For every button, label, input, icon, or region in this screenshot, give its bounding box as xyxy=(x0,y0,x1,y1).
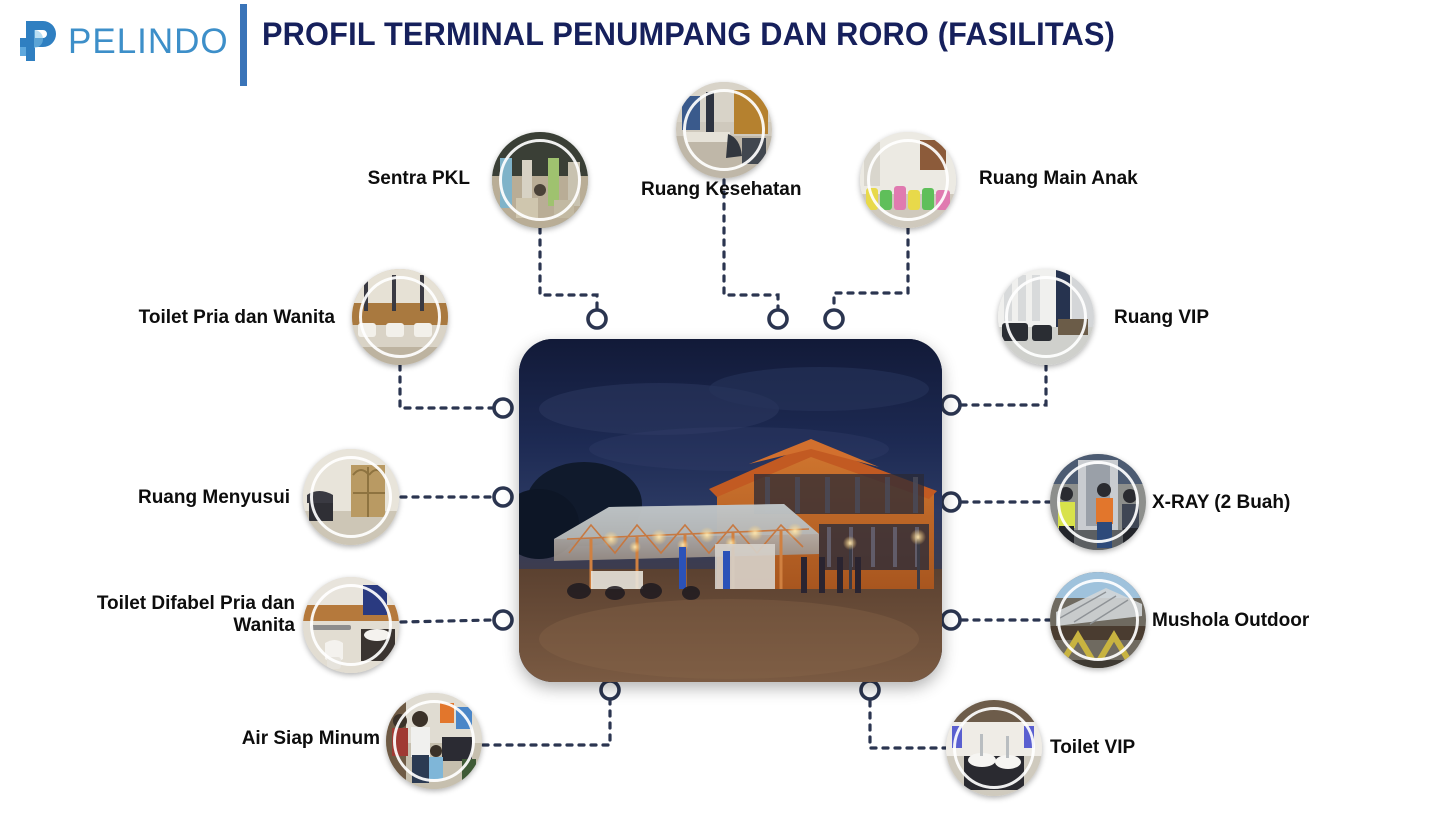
facility-photo-mushola-outdoor[interactable] xyxy=(1050,572,1146,668)
pelindo-logo: PELINDO xyxy=(18,18,229,66)
facility-photo-ruang-vip[interactable] xyxy=(998,269,1094,365)
facility-photo-ruang-kesehatan[interactable] xyxy=(676,82,772,178)
label-ruang-main-anak: Ruang Main Anak xyxy=(979,168,1138,190)
connector-node xyxy=(494,611,512,629)
badge-ring xyxy=(953,707,1036,790)
facility-photo-ruang-main-anak[interactable] xyxy=(860,132,956,228)
central-terminal-photo xyxy=(519,339,942,682)
connector-node xyxy=(588,310,606,328)
badge-ring xyxy=(310,584,393,667)
label-toilet-difabel-line2: Wanita xyxy=(233,615,295,636)
facility-photo-x-ray[interactable] xyxy=(1050,454,1146,550)
connector-node xyxy=(861,681,879,699)
label-ruang-menyusui: Ruang Menyusui xyxy=(40,487,290,509)
facility-photo-toilet-difabel[interactable] xyxy=(303,577,399,673)
facility-photo-ruang-menyusui[interactable] xyxy=(303,449,399,545)
label-toilet-difabel-line1: Toilet Difabel Pria dan xyxy=(97,593,295,614)
badge-ring xyxy=(683,89,766,172)
connector-node xyxy=(942,493,960,511)
label-air-siap-minum: Air Siap Minum xyxy=(60,728,380,750)
badge-ring xyxy=(1057,461,1140,544)
badge-ring xyxy=(1005,276,1088,359)
connector-node xyxy=(494,399,512,417)
label-toilet-difabel: Toilet Difabel Pria dan Wanita xyxy=(40,593,295,638)
label-mushola-outdoor: Mushola Outdoor xyxy=(1152,610,1309,632)
connector-node xyxy=(601,681,619,699)
label-toilet-vip: Toilet VIP xyxy=(1050,737,1135,759)
facility-photo-air-siap-minum[interactable] xyxy=(386,693,482,789)
badge-ring xyxy=(393,700,476,783)
connector-node xyxy=(942,396,960,414)
label-ruang-vip: Ruang VIP xyxy=(1114,307,1209,329)
connector-node xyxy=(769,310,787,328)
badge-ring xyxy=(1057,579,1140,662)
connector-node xyxy=(494,488,512,506)
connector-node xyxy=(825,310,843,328)
facility-photo-toilet-vip[interactable] xyxy=(946,700,1042,796)
label-x-ray: X-RAY (2 Buah) xyxy=(1152,492,1290,514)
pelindo-leaf-icon xyxy=(18,18,60,66)
pelindo-wordmark: PELINDO xyxy=(68,22,229,62)
label-ruang-kesehatan: Ruang Kesehatan xyxy=(641,179,801,201)
badge-ring xyxy=(310,456,393,539)
connector-node xyxy=(942,611,960,629)
slide-header: PELINDO PROFIL TERMINAL PENUMPANG DAN RO… xyxy=(0,0,1450,88)
facility-photo-toilet-pria-wanita[interactable] xyxy=(352,269,448,365)
badge-ring xyxy=(499,139,582,222)
badge-ring xyxy=(359,276,442,359)
badge-ring xyxy=(867,139,950,222)
page-title: PROFIL TERMINAL PENUMPANG DAN RORO (FASI… xyxy=(262,16,1115,53)
label-sentra-pkl: Sentra PKL xyxy=(200,168,470,190)
header-divider xyxy=(240,4,247,86)
facility-photo-sentra-pkl[interactable] xyxy=(492,132,588,228)
label-toilet-pria-wanita: Toilet Pria dan Wanita xyxy=(40,307,335,329)
slide-canvas: PELINDO PROFIL TERMINAL PENUMPANG DAN RO… xyxy=(0,0,1450,814)
